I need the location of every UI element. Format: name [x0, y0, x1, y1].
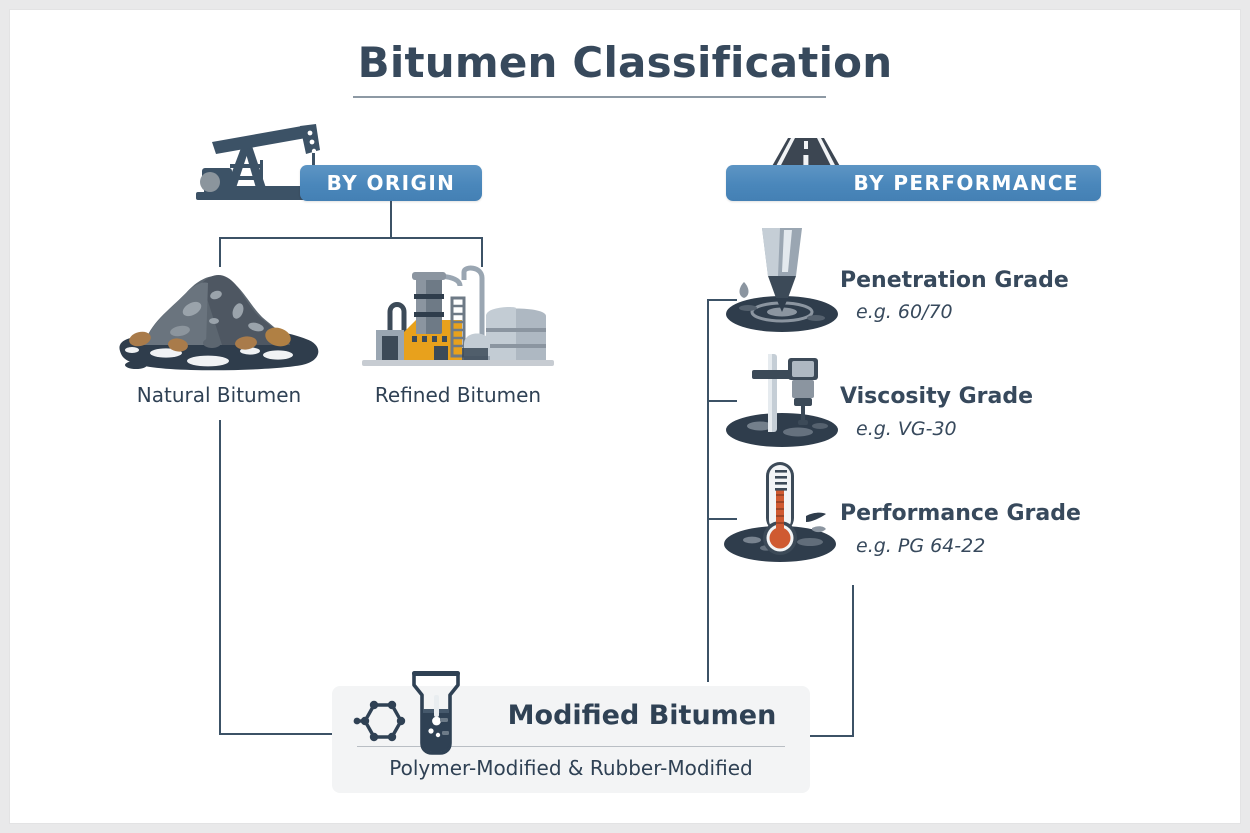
origin-trunk-line: [390, 201, 392, 238]
viscosity-grade-title: Viscosity Grade: [840, 384, 1033, 409]
viscosity-grade-example: e.g. VG-30: [856, 418, 957, 440]
origin-to-modified-connector: [219, 733, 334, 735]
thermometer-icon: [722, 460, 848, 565]
penetration-grade-example: e.g. 60/70: [856, 301, 953, 323]
infographic-canvas: Bitumen Classification BY ORIG: [10, 10, 1240, 823]
beaker-icon: [400, 665, 472, 759]
modified-bitumen-title: Modified Bitumen: [487, 700, 797, 731]
bitumen-rock-pile-icon: [110, 265, 330, 375]
badge-by-performance[interactable]: BY PERFORMANCE: [726, 165, 1101, 201]
origin-horizontal-line: [219, 237, 483, 239]
oil-refinery-icon: [360, 256, 556, 374]
badge-by-origin-label: BY ORIGIN: [327, 171, 456, 195]
penetration-grade-title: Penetration Grade: [840, 268, 1069, 293]
performance-to-modified-connector: [808, 735, 854, 737]
badge-by-origin[interactable]: BY ORIGIN: [300, 165, 482, 201]
performance-to-modified-line: [852, 585, 854, 737]
viscometer-icon: [724, 350, 842, 450]
badge-by-performance-label: BY PERFORMANCE: [854, 171, 1079, 195]
origin-to-modified-line: [219, 420, 221, 735]
performance-trunk-line: [707, 299, 709, 682]
penetrometer-icon: [724, 226, 842, 336]
title-divider: [353, 96, 826, 98]
performance-grade-example: e.g. PG 64-22: [856, 535, 985, 557]
modified-bitumen-subtitle: Polymer-Modified & Rubber-Modified: [332, 756, 810, 780]
caption-refined-bitumen: Refined Bitumen: [358, 383, 558, 407]
origin-branch-left-line: [219, 237, 221, 267]
performance-grade-title: Performance Grade: [840, 501, 1081, 526]
page-title: Bitumen Classification: [10, 38, 1240, 87]
caption-natural-bitumen: Natural Bitumen: [119, 383, 319, 407]
